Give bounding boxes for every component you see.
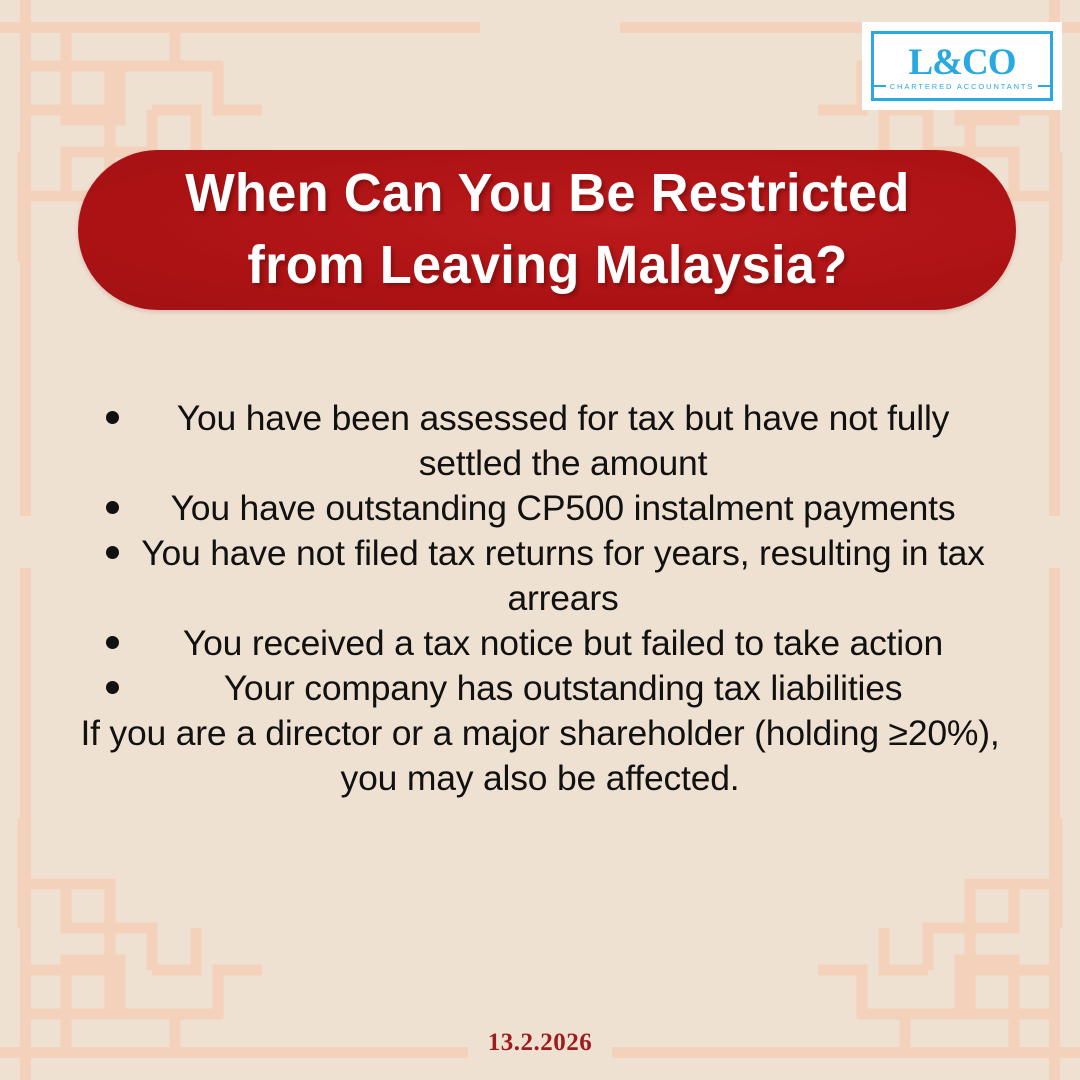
list-item-text: You have outstanding CP500 instalment pa… [74, 486, 1006, 531]
bullet-dot-icon [106, 546, 119, 559]
brand-logo: L&CO CHARTERED ACCOUNTANTS [862, 22, 1062, 110]
page-title: When Can You Be Restricted from Leaving … [150, 158, 944, 302]
list-item: You received a tax notice but failed to … [74, 621, 1006, 666]
list-item-text: You received a tax notice but failed to … [74, 621, 1006, 666]
page-title-line-2: from Leaving Malaysia? [247, 235, 847, 295]
brand-logo-tagline-row: CHARTERED ACCOUNTANTS [874, 82, 1050, 91]
list-item-text: You have not filed tax returns for years… [74, 531, 1006, 621]
list-item: Your company has outstanding tax liabili… [74, 666, 1006, 711]
list-item: You have outstanding CP500 instalment pa… [74, 486, 1006, 531]
headline-banner: When Can You Be Restricted from Leaving … [78, 150, 1016, 310]
list-item-text: You have been assessed for tax but have … [74, 396, 1006, 486]
logo-dash-left-icon [874, 85, 886, 87]
list-item: You have been assessed for tax but have … [74, 396, 1006, 486]
brand-logo-mark: L&CO [909, 45, 1016, 81]
logo-dash-right-icon [1038, 85, 1050, 87]
brand-logo-tagline: CHARTERED ACCOUNTANTS [886, 82, 1039, 91]
poster-canvas: L&CO CHARTERED ACCOUNTANTS When Can You … [0, 0, 1080, 1080]
content-body: You have been assessed for tax but have … [74, 396, 1006, 801]
list-item-text: Your company has outstanding tax liabili… [74, 666, 1006, 711]
closing-note: If you are a director or a major shareho… [74, 711, 1006, 801]
list-item: You have not filed tax returns for years… [74, 531, 1006, 621]
bullet-dot-icon [106, 501, 119, 514]
bullet-dot-icon [106, 411, 119, 424]
publish-date: 13.2.2026 [0, 1029, 1080, 1057]
page-title-line-1: When Can You Be Restricted [185, 163, 910, 223]
brand-logo-frame: L&CO CHARTERED ACCOUNTANTS [871, 31, 1053, 101]
bullet-dot-icon [106, 681, 119, 694]
bullet-dot-icon [106, 636, 119, 649]
